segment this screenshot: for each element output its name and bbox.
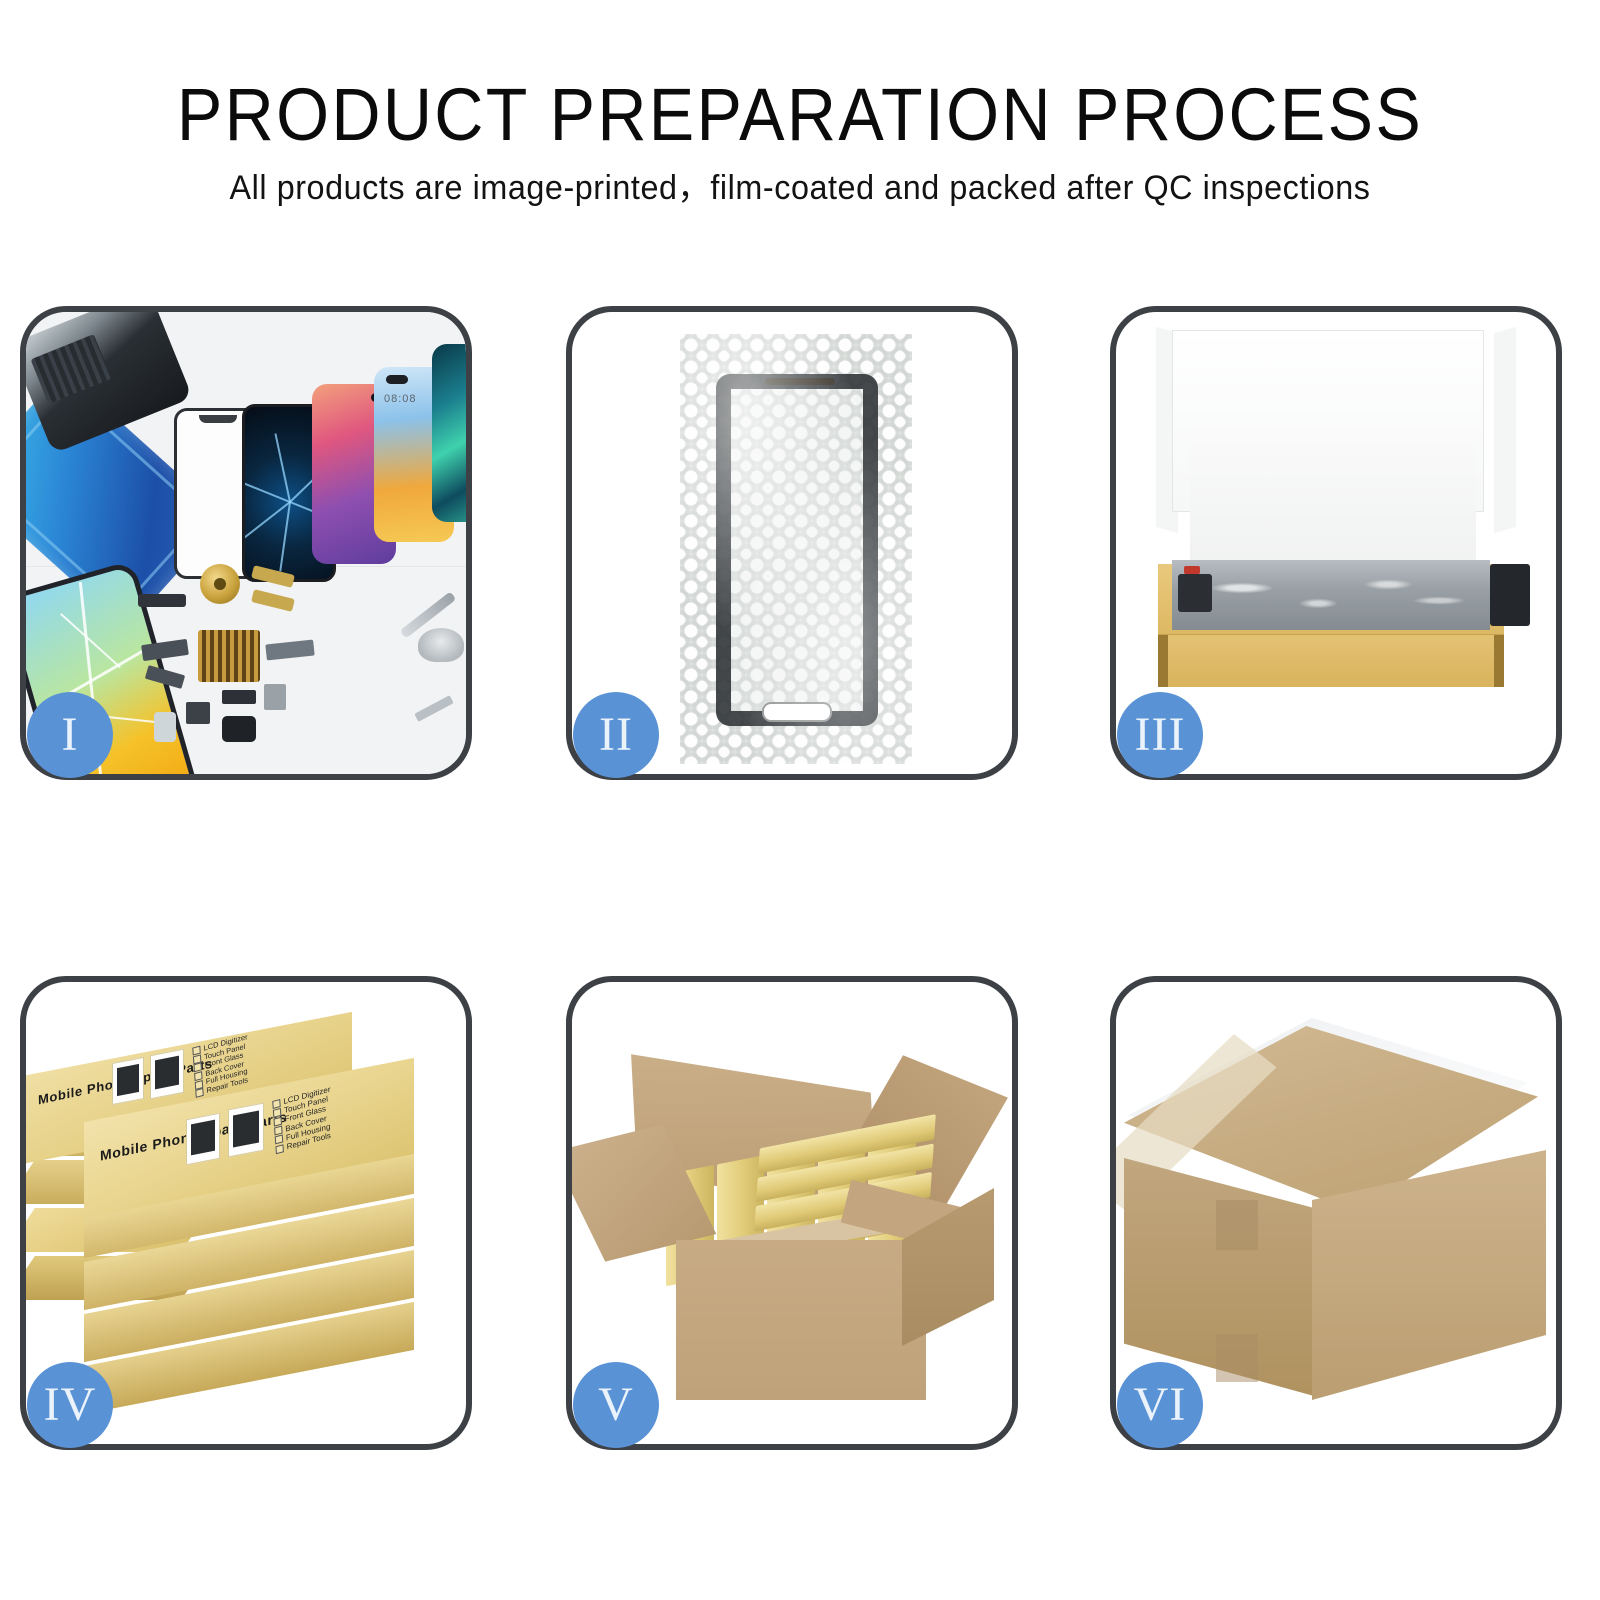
wireless-charging-coil: [200, 564, 240, 604]
small-component-c: [222, 690, 256, 704]
carton-front-face: [676, 1240, 926, 1400]
step-badge-6: VI: [1117, 1362, 1203, 1448]
retail-box-phone-image-back-1: [112, 1057, 144, 1105]
wrapped-touch-panel: [716, 374, 878, 726]
small-component-d: [186, 702, 210, 724]
retail-box-stack-front-4: [84, 1334, 414, 1382]
step-badge-5: V: [573, 1362, 659, 1448]
step-badge-4: IV: [27, 1362, 113, 1448]
step-badge-1: I: [27, 692, 113, 778]
mailer-tray-front-wall: [1158, 634, 1504, 687]
header: PRODUCT PREPARATION PROCESS All products…: [0, 0, 1600, 268]
camera-module: [222, 716, 256, 742]
mailer-lid-inner-face: [1190, 422, 1476, 570]
carton-seam-tab-lower: [1216, 1334, 1258, 1382]
page-subtitle: All products are image-printed，film-coat…: [40, 168, 1560, 208]
step-badge-2: II: [573, 692, 659, 778]
vibration-motor: [264, 684, 286, 710]
display-edge-bracket: [1490, 564, 1530, 626]
carton-seam-tab-upper: [1216, 1200, 1258, 1250]
retail-box-phone-image-back-2: [150, 1049, 184, 1100]
display-connector: [1178, 574, 1212, 612]
logic-board-chip: [198, 630, 260, 682]
cleaning-brush: [418, 628, 464, 662]
green-phone-display: [432, 344, 466, 522]
phone-clock-text: 08:08: [384, 393, 417, 405]
page-title: PRODUCT PREPARATION PROCESS: [64, 78, 1536, 152]
bubble-wrap-sheet: [680, 334, 912, 764]
sim-tray: [154, 712, 176, 742]
home-button-cutout: [762, 702, 832, 722]
retail-box-phone-image-front-1: [186, 1113, 220, 1166]
wrapped-screen-in-box: [1172, 560, 1490, 630]
step-badge-3: III: [1117, 692, 1203, 778]
retail-box-phone-image-front-2: [228, 1103, 264, 1158]
mailer-lid-right-flap: [1494, 327, 1516, 533]
earpiece-speaker-mesh: [138, 594, 186, 607]
